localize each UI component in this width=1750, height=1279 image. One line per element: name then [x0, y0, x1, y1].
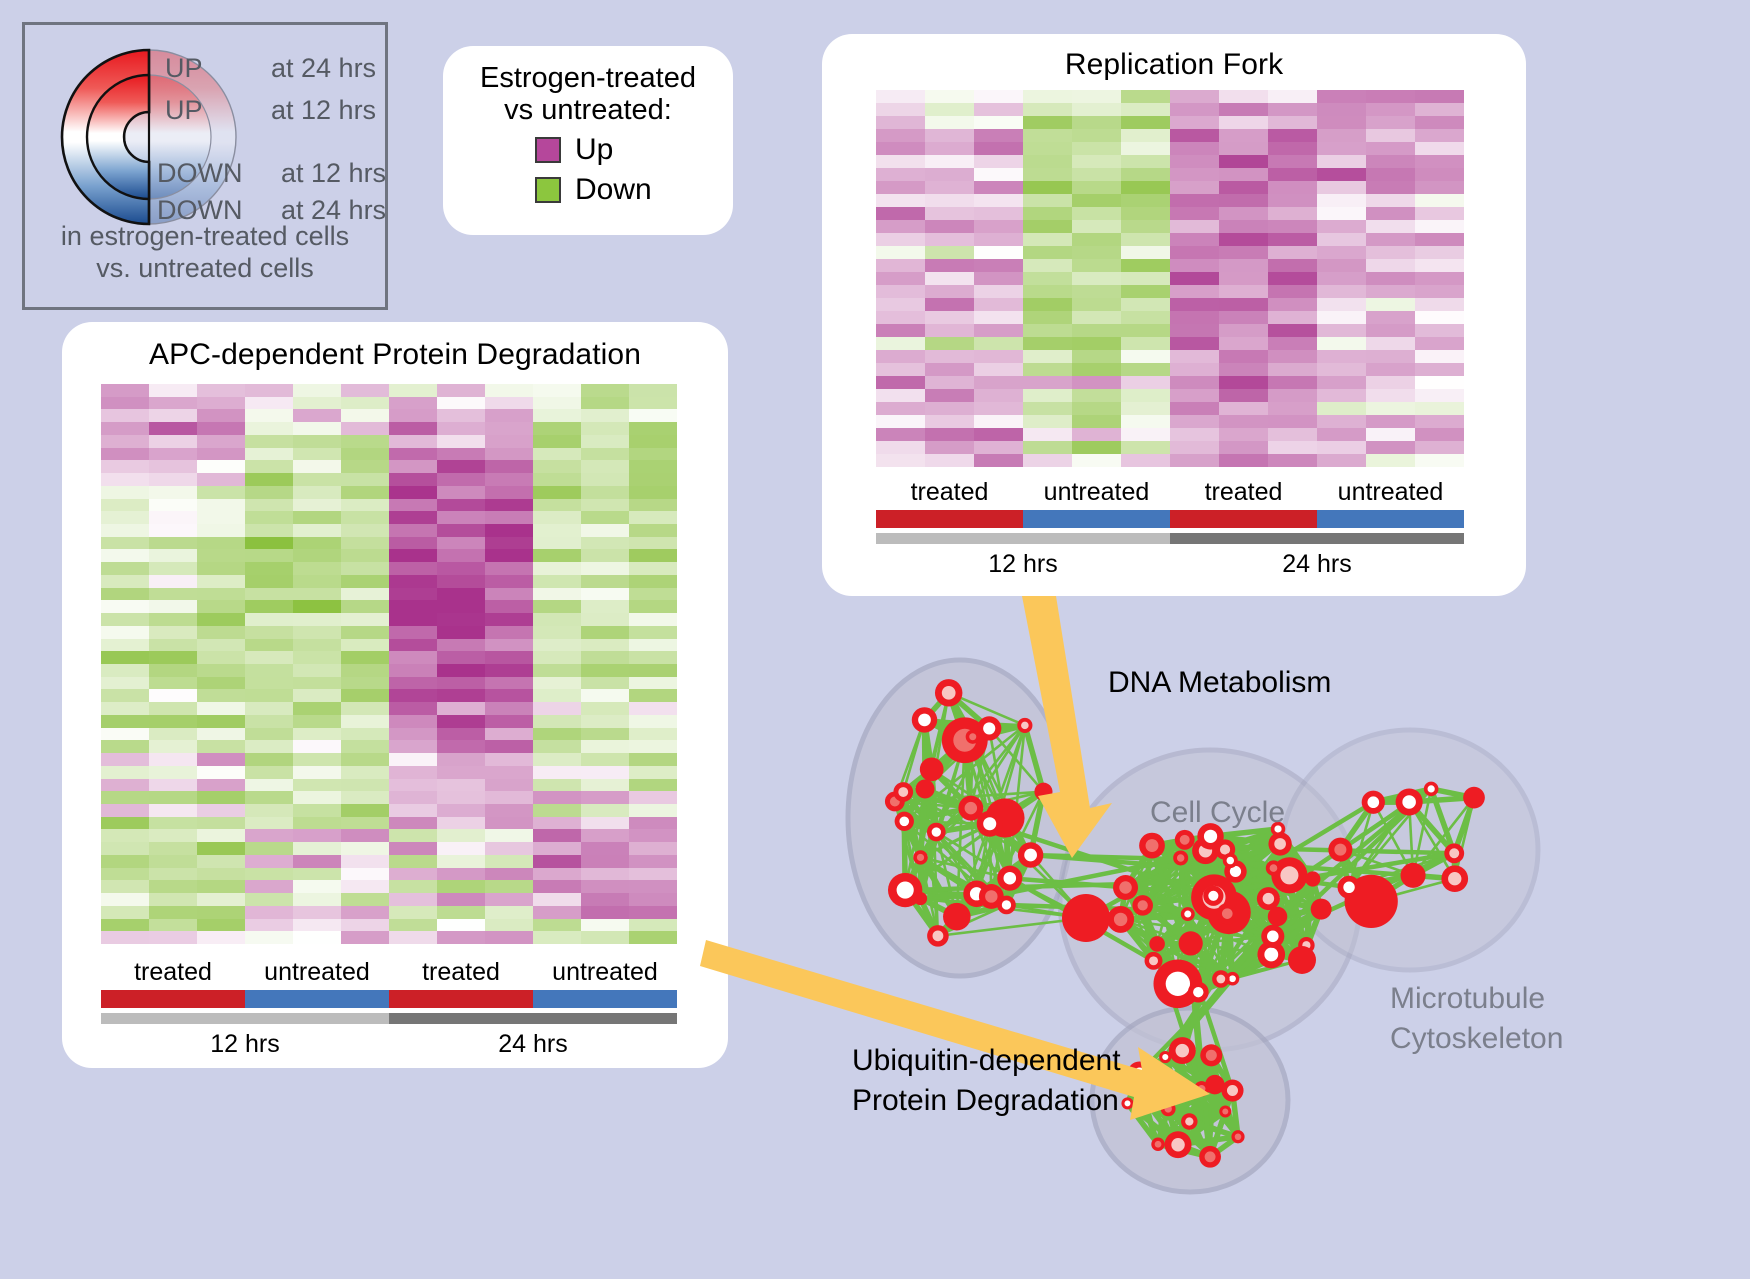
network-node[interactable]	[966, 730, 980, 744]
network-node[interactable]	[1107, 906, 1134, 933]
heatmap-cell	[1072, 103, 1121, 116]
heatmap-cell	[485, 779, 533, 792]
heatmap-cell	[1023, 116, 1072, 129]
label-microtubule: Microtubule	[1390, 982, 1545, 1015]
heatmap-cell	[1121, 402, 1170, 415]
heatmap-cell	[293, 842, 341, 855]
heatmap-cell	[197, 537, 245, 550]
group-color-bar	[101, 990, 245, 1008]
heatmap-cell	[197, 664, 245, 677]
heatmap-cell	[341, 448, 389, 461]
heatmap-cell	[1219, 272, 1268, 285]
heatmap-cell	[341, 651, 389, 664]
heatmap-cell	[149, 817, 197, 830]
heatmap-cell	[101, 397, 149, 410]
group-label: treated	[389, 958, 533, 987]
heatmap-cell	[485, 537, 533, 550]
heatmap-cell	[1317, 402, 1366, 415]
heatmap-cell	[1366, 272, 1415, 285]
heatmap-cell	[533, 384, 581, 397]
network-node[interactable]	[1203, 886, 1223, 906]
heatmap-cell	[341, 715, 389, 728]
heatmap-cell	[1366, 116, 1415, 129]
heatmap-cell	[389, 919, 437, 932]
network-node[interactable]	[1175, 830, 1195, 850]
network-node[interactable]	[1017, 718, 1032, 733]
node-inner-fill	[1334, 844, 1346, 856]
heatmap-cell	[101, 626, 149, 639]
ring-row-0-time: at 24 hrs	[271, 53, 376, 84]
heatmap-cell	[925, 259, 974, 272]
heatmap-cell	[1366, 207, 1415, 220]
heatmap-cell	[101, 791, 149, 804]
heatmap-cell	[974, 129, 1023, 142]
heatmap-cell	[1170, 155, 1219, 168]
heatmap-cell	[389, 842, 437, 855]
heatmap-cell	[437, 817, 485, 830]
legend-key-down: Down	[535, 173, 719, 207]
heatmap-cell	[245, 664, 293, 677]
heatmap-cell	[293, 919, 341, 932]
heatmap-cell	[1121, 103, 1170, 116]
heatmap-cell	[389, 855, 437, 868]
heatmap-cell	[925, 142, 974, 155]
heatmap-cell	[1219, 428, 1268, 441]
heatmap-cell	[533, 689, 581, 702]
heatmap-cell	[149, 893, 197, 906]
heatmap-cell	[629, 600, 677, 613]
heatmap-cell	[101, 919, 149, 932]
heatmap-cell	[1219, 441, 1268, 454]
heatmap-cell	[974, 259, 1023, 272]
rf-time-labels: 12 hrs24 hrs	[876, 550, 1464, 579]
network-node[interactable]	[1018, 842, 1043, 867]
heatmap-cell	[1121, 272, 1170, 285]
heatmap-cell	[197, 753, 245, 766]
heatmap-cell	[1268, 454, 1317, 467]
heatmap-cell	[1219, 389, 1268, 402]
heatmap-cell	[437, 524, 485, 537]
network-node[interactable]	[943, 903, 971, 931]
heatmap-cell	[876, 207, 925, 220]
node-inner-fill	[1024, 849, 1037, 862]
heatmap-cell	[1317, 168, 1366, 181]
node-inner-fill	[1222, 908, 1233, 919]
heatmap-cell	[293, 613, 341, 626]
node-inner-fill	[1229, 975, 1236, 982]
heatmap-cell	[437, 511, 485, 524]
node-outer-ring	[943, 903, 971, 931]
network-node[interactable]	[1181, 907, 1195, 921]
heatmap-cell	[149, 499, 197, 512]
heatmap-cell	[341, 817, 389, 830]
heatmap-cell	[581, 677, 629, 690]
heatmap-cell	[876, 220, 925, 233]
network-node[interactable]	[979, 884, 1004, 909]
heatmap-cell	[197, 409, 245, 422]
heatmap-cell	[1366, 402, 1415, 415]
heatmap-cell	[245, 753, 293, 766]
heatmap-cell	[101, 766, 149, 779]
network-node[interactable]	[927, 823, 946, 842]
network-node[interactable]	[912, 707, 937, 732]
heatmap-cell	[245, 460, 293, 473]
network-node[interactable]	[1362, 791, 1385, 814]
heatmap-cell	[1121, 441, 1170, 454]
network-node[interactable]	[1062, 894, 1110, 942]
heatmap-cell	[1121, 90, 1170, 103]
heatmap-cell	[629, 791, 677, 804]
node-outer-ring	[920, 757, 944, 781]
network-node[interactable]	[1151, 1138, 1164, 1151]
network-node[interactable]	[927, 925, 949, 947]
heatmap-cell	[197, 499, 245, 512]
heatmap-cell	[533, 906, 581, 919]
heatmap-cell	[197, 689, 245, 702]
heatmap-cell	[149, 880, 197, 893]
apc-timepoint-bar	[101, 1013, 677, 1024]
node-inner-fill	[1343, 882, 1354, 893]
heatmap-cell	[101, 639, 149, 652]
network-node[interactable]	[977, 716, 1001, 740]
network-node[interactable]	[1268, 832, 1291, 855]
network-node[interactable]	[914, 892, 927, 905]
heatmap-cell	[149, 919, 197, 932]
network-node[interactable]	[1173, 850, 1188, 865]
node-inner-fill	[1280, 866, 1298, 884]
network-node[interactable]	[1261, 925, 1284, 948]
network-node[interactable]	[935, 679, 962, 706]
legend-key-up-label: Up	[575, 133, 613, 167]
heatmap-cell	[101, 473, 149, 486]
heatmap-cell	[1121, 155, 1170, 168]
apc-panel-title: APC-dependent Protein Degradation	[62, 338, 728, 372]
heatmap-cell	[533, 753, 581, 766]
heatmap-cell	[341, 397, 389, 410]
heatmap-cell	[1219, 259, 1268, 272]
heatmap-cell	[101, 524, 149, 537]
network-node[interactable]	[1223, 853, 1238, 868]
heatmap-cell	[293, 397, 341, 410]
network-node[interactable]	[1165, 1131, 1192, 1158]
heatmap-cell	[485, 473, 533, 486]
heatmap-cell	[101, 651, 149, 664]
node-inner-fill	[1204, 830, 1217, 843]
heatmap-cell	[1366, 246, 1415, 259]
heatmap-cell	[485, 715, 533, 728]
network-node[interactable]	[1288, 946, 1316, 974]
estrogen-legend-panel: Estrogen-treated vs untreated: Up Down	[443, 46, 733, 235]
heatmap-cell	[1317, 142, 1366, 155]
heatmap-cell	[876, 168, 925, 181]
heatmap-cell	[101, 588, 149, 601]
heatmap-cell	[1121, 376, 1170, 389]
heatmap-cell	[389, 728, 437, 741]
heatmap-cell	[149, 460, 197, 473]
node-inner-fill	[1162, 1054, 1168, 1060]
heatmap-cell	[1023, 350, 1072, 363]
heatmap-cell	[485, 880, 533, 893]
heatmap-cell	[533, 779, 581, 792]
label-ubiquitin-line2: Protein Degradation	[852, 1084, 1119, 1117]
heatmap-cell	[629, 422, 677, 435]
heatmap-cell	[533, 791, 581, 804]
heatmap-cell	[1268, 298, 1317, 311]
node-inner-fill	[985, 890, 997, 902]
heatmap-cell	[876, 103, 925, 116]
heatmap-cell	[533, 600, 581, 613]
heatmap-cell	[1072, 285, 1121, 298]
heatmap-cell	[245, 689, 293, 702]
node-inner-fill	[942, 686, 956, 700]
heatmap-cell	[1268, 324, 1317, 337]
heatmap-cell	[629, 613, 677, 626]
heatmap-cell	[485, 588, 533, 601]
apc-treatment-bar	[101, 990, 677, 1008]
network-node[interactable]	[1145, 952, 1163, 970]
heatmap-cell	[533, 435, 581, 448]
heatmap-cell	[629, 664, 677, 677]
network-node[interactable]	[1199, 1146, 1221, 1168]
heatmap-cell	[149, 409, 197, 422]
node-inner-fill	[1220, 844, 1230, 854]
heatmap-cell	[197, 626, 245, 639]
heatmap-cell	[925, 207, 974, 220]
heatmap-cell	[1023, 402, 1072, 415]
heatmap-cell	[245, 588, 293, 601]
heatmap-cell	[197, 651, 245, 664]
heatmap-cell	[533, 397, 581, 410]
network-node[interactable]	[1219, 1105, 1231, 1117]
heatmap-cell	[1317, 207, 1366, 220]
heatmap-cell	[1219, 220, 1268, 233]
heatmap-cell	[1317, 363, 1366, 376]
heatmap-cell	[1023, 181, 1072, 194]
heatmap-cell	[1219, 311, 1268, 324]
node-inner-fill	[1166, 972, 1190, 996]
node-inner-fill	[1227, 857, 1235, 865]
heatmap-cell	[1023, 142, 1072, 155]
network-node[interactable]	[1396, 788, 1423, 815]
node-inner-fill	[1002, 900, 1011, 909]
heatmap-cell	[925, 350, 974, 363]
heatmap-cell	[581, 728, 629, 741]
heatmap-cell	[1170, 454, 1219, 467]
heatmap-cell	[245, 728, 293, 741]
network-node[interactable]	[1311, 899, 1332, 920]
network-node[interactable]	[1463, 787, 1485, 809]
network-node[interactable]	[1139, 833, 1165, 859]
heatmap-cell	[197, 562, 245, 575]
heatmap-cell	[1415, 142, 1464, 155]
node-inner-fill	[1263, 893, 1274, 904]
heatmap-cell	[245, 855, 293, 868]
network-node[interactable]	[1338, 876, 1361, 899]
heatmap-cell	[1219, 90, 1268, 103]
heatmap-cell	[245, 740, 293, 753]
group-color-bar	[1023, 510, 1170, 528]
heatmap-cell	[245, 511, 293, 524]
network-node[interactable]	[1132, 895, 1153, 916]
heatmap-cell	[876, 441, 925, 454]
network-node[interactable]	[1266, 860, 1281, 875]
network-node[interactable]	[913, 850, 927, 864]
network-node[interactable]	[1113, 875, 1138, 900]
network-node[interactable]	[977, 811, 1003, 837]
heatmap-cell	[341, 791, 389, 804]
heatmap-cell	[437, 689, 485, 702]
heatmap-cell	[1317, 259, 1366, 272]
heatmap-cell	[293, 855, 341, 868]
heatmap-cell	[876, 350, 925, 363]
network-node[interactable]	[916, 779, 935, 798]
heatmap-cell	[293, 384, 341, 397]
heatmap-cell	[1219, 103, 1268, 116]
network-node[interactable]	[997, 866, 1022, 891]
heatmap-cell	[149, 486, 197, 499]
heatmap-cell	[485, 740, 533, 753]
heatmap-cell	[245, 575, 293, 588]
heatmap-cell	[1219, 207, 1268, 220]
network-node[interactable]	[1424, 782, 1439, 797]
heatmap-cell	[876, 285, 925, 298]
network-node[interactable]	[1217, 903, 1238, 924]
heatmap-cell	[1170, 428, 1219, 441]
network-node[interactable]	[1305, 871, 1320, 886]
heatmap-cell	[974, 415, 1023, 428]
heatmap-cell	[1268, 272, 1317, 285]
network-node[interactable]	[1181, 1113, 1197, 1129]
heatmap-cell	[341, 689, 389, 702]
heatmap-cell	[1023, 194, 1072, 207]
network-node[interactable]	[1212, 970, 1229, 987]
network-node[interactable]	[1179, 931, 1203, 955]
heatmap-cell	[1219, 454, 1268, 467]
heatmap-cell	[974, 402, 1023, 415]
heatmap-cell	[101, 842, 149, 855]
heatmap-cell	[389, 511, 437, 524]
node-inner-fill	[1149, 956, 1158, 965]
network-node[interactable]	[1121, 1097, 1133, 1109]
heatmap-cell	[629, 893, 677, 906]
heatmap-cell	[149, 906, 197, 919]
heatmap-cell	[293, 600, 341, 613]
heatmap-cell	[876, 272, 925, 285]
heatmap-cell	[245, 817, 293, 830]
network-node[interactable]	[895, 812, 914, 831]
heatmap-cell	[149, 677, 197, 690]
heatmap-cell	[197, 460, 245, 473]
heatmap-cell	[581, 651, 629, 664]
heatmap-cell	[1268, 441, 1317, 454]
heatmap-cell	[485, 855, 533, 868]
node-inner-fill	[1004, 872, 1017, 885]
heatmap-cell	[485, 448, 533, 461]
heatmap-cell	[1415, 311, 1464, 324]
heatmap-cell	[293, 448, 341, 461]
heatmap-cell	[341, 766, 389, 779]
network-node[interactable]	[920, 757, 944, 781]
node-inner-fill	[1155, 1141, 1162, 1148]
heatmap-cell	[1072, 376, 1121, 389]
heatmap-cell	[974, 272, 1023, 285]
network-node[interactable]	[893, 782, 913, 802]
heatmap-cell	[1170, 285, 1219, 298]
heatmap-cell	[389, 537, 437, 550]
network-node[interactable]	[1328, 838, 1352, 862]
heatmap-cell	[1366, 90, 1415, 103]
heatmap-cell	[1023, 298, 1072, 311]
rf-timepoint-bar	[876, 533, 1464, 544]
heatmap-cell	[1366, 454, 1415, 467]
heatmap-cell	[101, 779, 149, 792]
heatmap-cell	[629, 868, 677, 881]
heatmap-cell	[1170, 207, 1219, 220]
network-node[interactable]	[1257, 887, 1280, 910]
heatmap-cell	[341, 677, 389, 690]
heatmap-cell	[293, 639, 341, 652]
heatmap-cell	[1219, 337, 1268, 350]
network-node[interactable]	[1401, 863, 1426, 888]
heatmap-cell	[1366, 285, 1415, 298]
heatmap-cell	[581, 689, 629, 702]
heatmap-cell	[437, 728, 485, 741]
heatmap-cell	[149, 779, 197, 792]
heatmap-cell	[1415, 415, 1464, 428]
heatmap-cell	[1317, 298, 1366, 311]
heatmap-cell	[485, 651, 533, 664]
heatmap-cell	[197, 575, 245, 588]
node-inner-fill	[899, 816, 909, 826]
heatmap-cell	[1072, 142, 1121, 155]
heatmap-cell	[437, 829, 485, 842]
heatmap-cell	[389, 626, 437, 639]
node-inner-fill	[917, 854, 924, 861]
heatmap-cell	[245, 626, 293, 639]
heatmap-cell	[876, 155, 925, 168]
heatmap-cell	[245, 842, 293, 855]
network-node[interactable]	[1188, 982, 1209, 1003]
node-inner-fill	[1119, 881, 1131, 893]
heatmap-cell	[437, 893, 485, 906]
heatmap-cell	[581, 448, 629, 461]
heatmap-cell	[149, 766, 197, 779]
heatmap-cell	[1121, 337, 1170, 350]
network-node[interactable]	[1231, 1130, 1244, 1143]
node-outer-ring	[916, 779, 935, 798]
network-node[interactable]	[1221, 1079, 1243, 1101]
heatmap-cell	[485, 931, 533, 944]
network-node[interactable]	[1444, 843, 1464, 863]
heatmap-cell	[341, 829, 389, 842]
node-outer-ring	[1179, 931, 1203, 955]
network-node[interactable]	[1441, 865, 1468, 892]
heatmap-cell	[149, 575, 197, 588]
heatmap-cell	[533, 702, 581, 715]
node-outer-ring	[1268, 907, 1287, 926]
network-node[interactable]	[1149, 936, 1165, 952]
heatmap-cell	[1366, 233, 1415, 246]
network-node[interactable]	[1169, 1037, 1196, 1064]
group-color-bar	[389, 990, 533, 1008]
network-node[interactable]	[1268, 907, 1287, 926]
node-inner-fill	[1180, 835, 1190, 845]
heatmap-cell	[149, 931, 197, 944]
heatmap-cell	[437, 931, 485, 944]
heatmap-cell	[149, 562, 197, 575]
heatmap-cell	[101, 549, 149, 562]
network-node[interactable]	[1200, 1044, 1222, 1066]
